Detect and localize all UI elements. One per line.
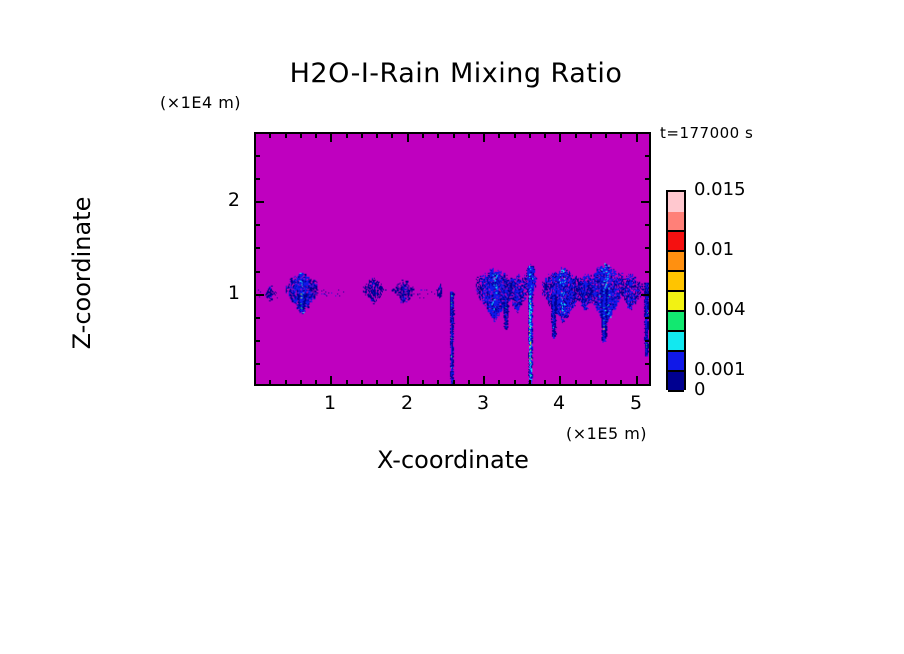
x-tick-top (330, 132, 332, 142)
chart-title-wrap: H2O-I-Rain Mixing Ratio (176, 58, 736, 89)
x-tick (544, 380, 546, 386)
x-tick-top (453, 132, 455, 138)
z-tick-right (645, 155, 651, 157)
x-tick (437, 380, 439, 386)
x-tick (559, 376, 561, 386)
x-tick-top (575, 132, 577, 138)
x-tick-top (315, 132, 317, 138)
z-tick-right (641, 201, 651, 203)
x-tick-top (437, 132, 439, 138)
y-axis-title: Z-coordinate (68, 143, 96, 403)
x-tick (422, 380, 424, 386)
x-tick (620, 380, 622, 386)
z-tick (254, 201, 264, 203)
z-tick-right (641, 294, 651, 296)
x-tick-top (544, 132, 546, 138)
x-tick-top (529, 132, 531, 138)
x-tick (468, 380, 470, 386)
x-axis-title-wrap: X-coordinate (173, 446, 733, 474)
z-tick (254, 340, 260, 342)
x-tick-top (620, 132, 622, 138)
colorbar-band (668, 272, 684, 292)
x-tick-top (376, 132, 378, 138)
heatmap-field (256, 134, 649, 384)
x-tick (315, 380, 317, 386)
z-tick-label: 2 (214, 189, 240, 211)
chart-title: H2O-I-Rain Mixing Ratio (290, 58, 623, 89)
z-tick-right (645, 317, 651, 319)
x-tick (636, 376, 638, 386)
z-tick (254, 155, 260, 157)
x-tick-label: 5 (616, 392, 656, 414)
x-tick-top (361, 132, 363, 138)
colorbar-tick-label: 0.015 (694, 179, 746, 200)
x-tick (605, 380, 607, 386)
x-tick-top (269, 132, 271, 138)
x-tick (376, 380, 378, 386)
figure-canvas: H2O-I-Rain Mixing Ratio (×1E4 m) t=17700… (0, 0, 904, 654)
colorbar-tick-label: 0.01 (694, 239, 734, 260)
x-tick (269, 380, 271, 386)
x-tick-top (559, 132, 561, 142)
colorbar[interactable] (666, 190, 686, 390)
x-tick-top (483, 132, 485, 142)
x-tick (330, 376, 332, 386)
x-tick-top (285, 132, 287, 138)
colorbar-band (668, 252, 684, 272)
plot-area[interactable] (254, 132, 651, 386)
x-tick-top (605, 132, 607, 138)
x-tick (453, 380, 455, 386)
z-tick (254, 294, 264, 296)
time-annotation: t=177000 s (660, 124, 753, 142)
x-tick (407, 376, 409, 386)
z-tick-right (645, 271, 651, 273)
x-tick-top (498, 132, 500, 138)
x-tick (590, 380, 592, 386)
colorbar-band (668, 292, 684, 312)
x-tick (575, 380, 577, 386)
z-tick-right (645, 224, 651, 226)
x-tick (529, 380, 531, 386)
z-tick (254, 271, 260, 273)
z-tick (254, 363, 260, 365)
z-tick-label: 1 (214, 282, 240, 304)
x-axis-unit-label: (×1E5 m) (566, 424, 647, 443)
x-tick (285, 380, 287, 386)
x-tick-top (514, 132, 516, 138)
x-tick-top (407, 132, 409, 142)
colorbar-band (668, 312, 684, 332)
x-tick-label: 3 (463, 392, 503, 414)
z-tick (254, 178, 260, 180)
x-tick-top (590, 132, 592, 138)
x-tick-label: 1 (310, 392, 350, 414)
z-tick (254, 317, 260, 319)
z-axis-unit-label: (×1E4 m) (160, 93, 241, 112)
colorbar-tick-label: 0.001 (694, 359, 746, 380)
colorbar-band (668, 332, 684, 352)
colorbar-band (668, 232, 684, 252)
x-tick (483, 376, 485, 386)
x-tick-label: 4 (539, 392, 579, 414)
colorbar-band (668, 372, 684, 392)
z-tick (254, 247, 260, 249)
x-tick (514, 380, 516, 386)
z-tick-right (645, 340, 651, 342)
colorbar-tick-label: 0 (694, 379, 705, 400)
x-tick-top (636, 132, 638, 142)
x-tick (346, 380, 348, 386)
x-tick (361, 380, 363, 386)
x-tick (300, 380, 302, 386)
colorbar-band (668, 192, 684, 212)
x-tick (391, 380, 393, 386)
x-tick-top (422, 132, 424, 138)
colorbar-band (668, 352, 684, 372)
z-tick-right (645, 178, 651, 180)
x-tick (498, 380, 500, 386)
x-tick-top (300, 132, 302, 138)
x-axis-title: X-coordinate (377, 446, 529, 474)
x-tick-top (346, 132, 348, 138)
colorbar-tick-label: 0.004 (694, 299, 746, 320)
z-tick (254, 224, 260, 226)
x-tick-top (391, 132, 393, 138)
z-tick-right (645, 363, 651, 365)
z-tick-right (645, 247, 651, 249)
x-tick-top (468, 132, 470, 138)
x-tick-label: 2 (387, 392, 427, 414)
colorbar-band (668, 212, 684, 232)
